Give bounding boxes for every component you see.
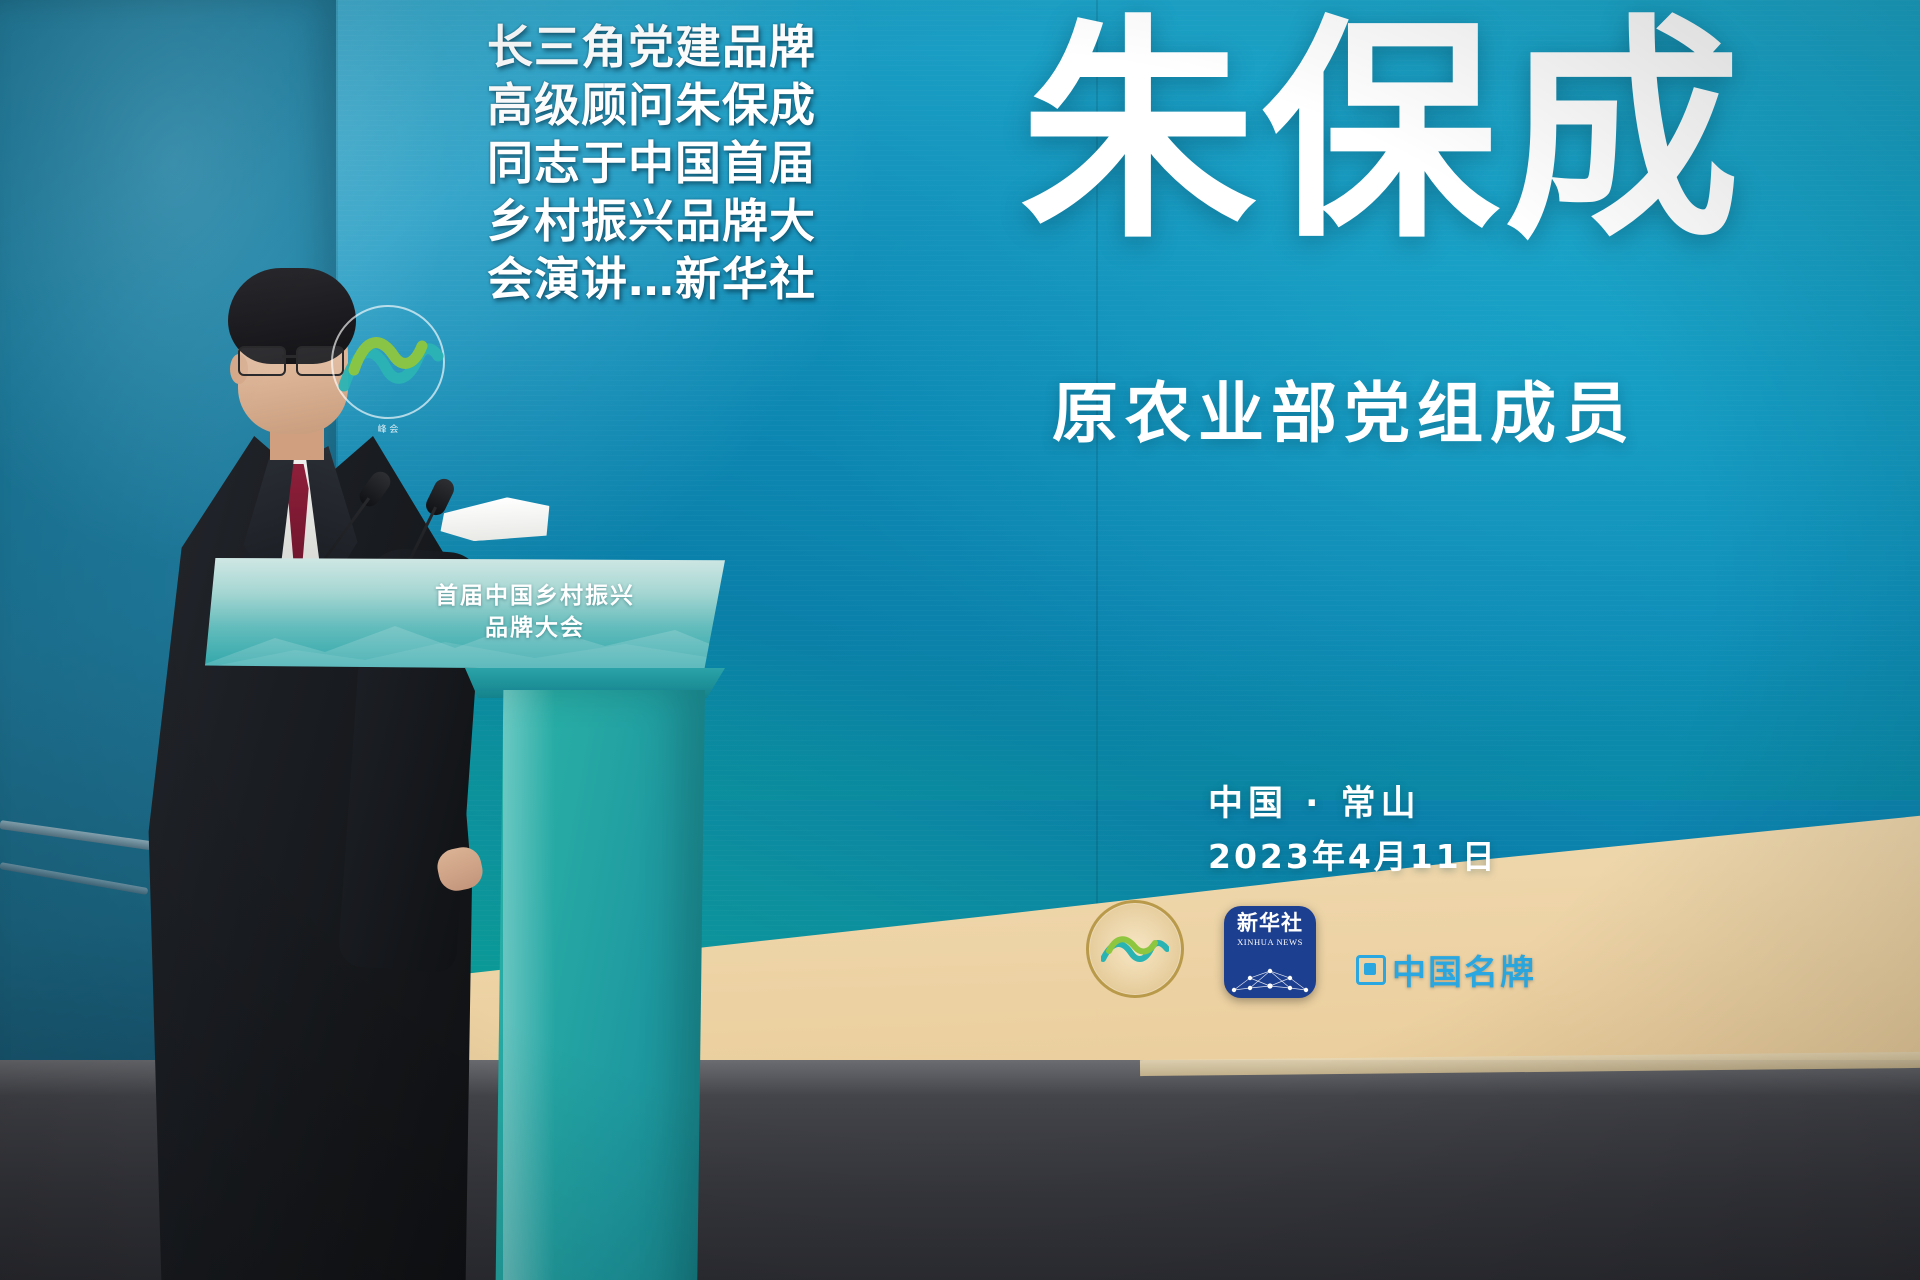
led-location-text: 中国 · 常山 (1208, 775, 1421, 826)
china-brand-logo: 中国名牌 (1356, 945, 1536, 998)
lectern-highlight (503, 690, 555, 1280)
led-subtitle-title: 原农业部党组成员 (1052, 360, 1636, 456)
caption-line-2: 高级顾问朱保成 (487, 76, 917, 134)
caption-line-5: 会演讲…新华社 (487, 250, 917, 308)
led-date-text: 2023年4月11日 (1208, 830, 1498, 878)
china-brand-mark-icon (1356, 955, 1386, 985)
lectern-sign-line1: 首届中国乡村振兴 (435, 580, 635, 612)
caption-line-1: 长三角党建品牌 (487, 18, 917, 76)
news-caption-overlay: 长三角党建品牌 高级顾问朱保成 同志于中国首届 乡村振兴品牌大 会演讲…新华社 (487, 18, 917, 308)
caption-line-4: 乡村振兴品牌大 (487, 192, 917, 250)
led-headline-name: 朱保成 (1020, 20, 1746, 247)
xinhua-news-logo: 新华社 XINHUA NEWS (1224, 906, 1316, 998)
xinhua-logo-cn-text: 新华社 (1237, 913, 1303, 934)
glasses-lens-left (238, 346, 286, 376)
lectern-top-panel: 首届中国乡村振兴 品牌大会 (205, 558, 725, 670)
seal-wave-mark (1101, 933, 1169, 967)
china-brand-label: 中国名牌 (1392, 945, 1536, 994)
lectern-column (495, 690, 705, 1280)
caption-line-3: 同志于中国首届 (487, 134, 917, 192)
led-logo-row: 新华社 XINHUA NEWS 中国名牌 (1086, 900, 1536, 998)
screenshot-root: 朱保成 原农业部党组成员 中国 · 常山 2023年4月11日 新华社 XINH… (0, 0, 1920, 1280)
lectern: 首届中国乡村振兴 品牌大会 (205, 540, 725, 1280)
lectern-sign-text: 首届中国乡村振兴 品牌大会 (435, 580, 635, 644)
svg-text:峰 会: 峰 会 (378, 423, 399, 435)
rural-revitalization-seal-icon (1086, 900, 1184, 998)
xinhua-logo-en-text: XINHUA NEWS (1237, 937, 1303, 947)
lectern-sign-line2: 品牌大会 (435, 612, 635, 644)
lectern-emblem-icon: 峰 会 (328, 300, 448, 490)
xinhua-network-icon (1224, 956, 1316, 996)
lectern-emblem-graphic: 峰 会 (328, 300, 448, 490)
